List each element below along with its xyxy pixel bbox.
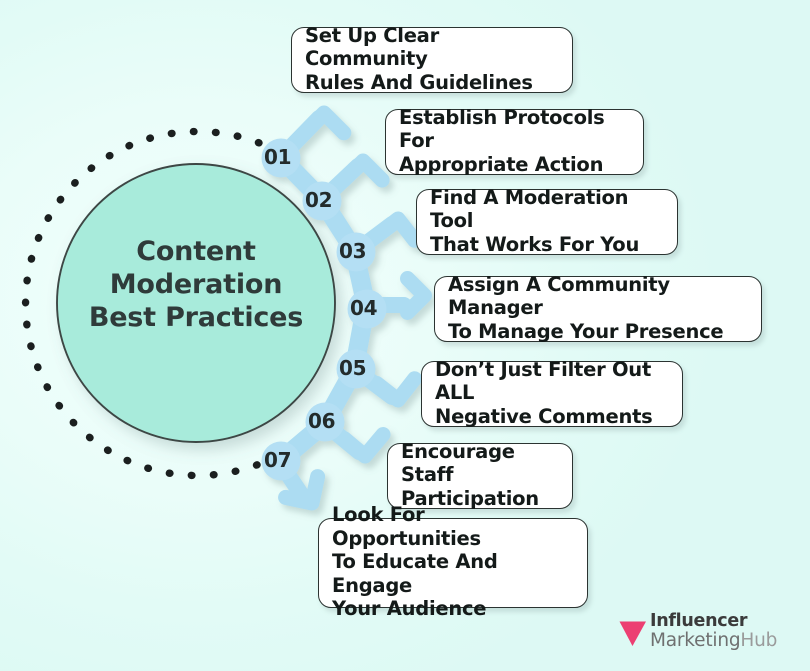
step-box-04[interactable]: Assign A Community Manager To Manage You…: [434, 276, 762, 342]
step-box-03[interactable]: Find A Moderation Tool That Works For Yo…: [416, 189, 678, 255]
step-box-01-line-1: Set Up Clear Community: [305, 24, 439, 71]
step-box-07-line-1: Look For Opportunities: [332, 503, 481, 550]
step-box-06-line-1: Encourage Staff: [401, 440, 515, 487]
step-box-05-line-2: Negative Comments: [435, 405, 653, 428]
step-box-07-line-2: To Educate And Engage: [332, 550, 498, 597]
step-box-06-text: Encourage Staff Participation: [401, 440, 559, 511]
step-box-07-line-3: Your Audience: [332, 597, 486, 620]
step-box-04-text: Assign A Community Manager To Manage You…: [448, 273, 748, 344]
brand-logo-line-2: MarketingHub: [650, 632, 777, 651]
step-box-02-line-2: Appropriate Action: [399, 153, 603, 176]
step-box-06[interactable]: Encourage Staff Participation: [387, 443, 573, 509]
step-box-02-line-1: Establish Protocols For: [399, 106, 605, 153]
brand-logo-text: Influencer MarketingHub: [650, 613, 777, 650]
step-box-01[interactable]: Set Up Clear Community Rules And Guideli…: [291, 27, 573, 93]
step-box-01-line-2: Rules And Guidelines: [305, 71, 533, 94]
brand-logo-marketing: Marketing: [650, 630, 740, 651]
step-box-04-line-1: Assign A Community Manager: [448, 273, 670, 320]
step-number-07: 07: [264, 450, 291, 470]
step-box-07[interactable]: Look For Opportunities To Educate And En…: [318, 518, 588, 608]
step-box-05[interactable]: Don’t Just Filter Out ALL Negative Comme…: [421, 361, 683, 427]
step-box-02-text: Establish Protocols For Appropriate Acti…: [399, 106, 630, 177]
hub-circle: [57, 164, 335, 442]
brand-logo-hub: Hub: [740, 630, 777, 651]
step-number-05: 05: [339, 358, 366, 378]
step-box-03-line-1: Find A Moderation Tool: [430, 186, 628, 233]
step-box-01-text: Set Up Clear Community Rules And Guideli…: [305, 24, 559, 95]
step-box-07-text: Look For Opportunities To Educate And En…: [332, 503, 574, 621]
step-number-06: 06: [308, 411, 335, 431]
step-number-03: 03: [339, 241, 366, 261]
pink-triangle-icon: [618, 615, 648, 649]
step-box-05-line-1: Don’t Just Filter Out ALL: [435, 358, 651, 405]
step-number-04: 04: [350, 298, 377, 318]
step-number-02: 02: [305, 190, 332, 210]
infographic-canvas: Content Moderation Best Practices 01 02 …: [0, 0, 810, 671]
brand-logo-line-1: Influencer: [650, 613, 777, 631]
brand-logo[interactable]: Influencer MarketingHub: [618, 613, 777, 650]
step-box-05-text: Don’t Just Filter Out ALL Negative Comme…: [435, 358, 669, 429]
step-box-04-line-2: To Manage Your Presence: [448, 320, 723, 343]
step-box-02[interactable]: Establish Protocols For Appropriate Acti…: [385, 109, 644, 175]
step-box-03-text: Find A Moderation Tool That Works For Yo…: [430, 186, 664, 257]
step-number-01: 01: [264, 147, 291, 167]
step-box-03-line-2: That Works For You: [430, 233, 639, 256]
